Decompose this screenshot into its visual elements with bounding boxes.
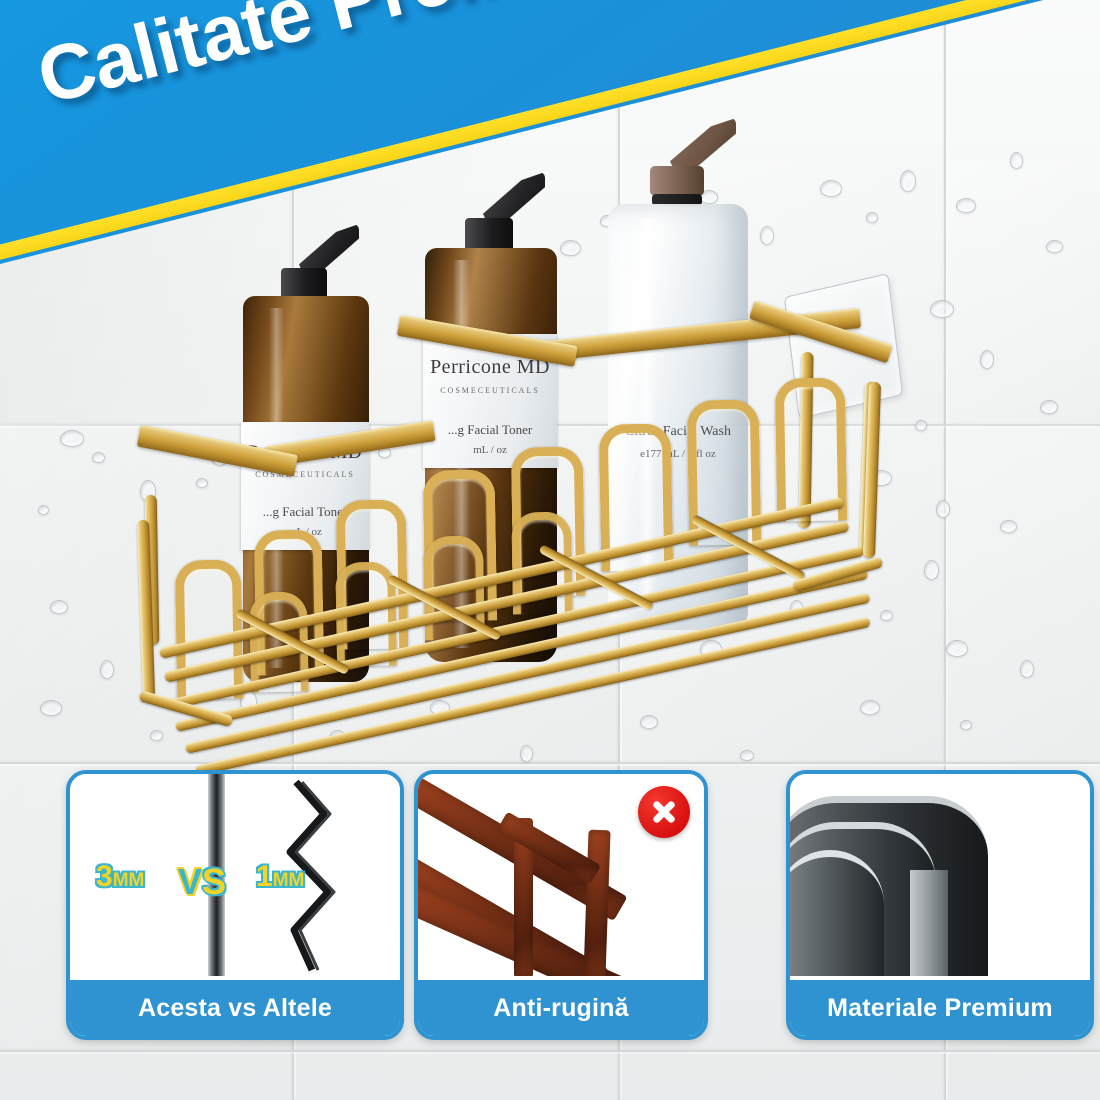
right-unit: MM — [273, 870, 305, 891]
vs-s: S — [202, 861, 226, 902]
feature-card-row: 3MM VS 1MM Acesta vs Altele — [0, 770, 1100, 1045]
card-media-anti-rust — [418, 774, 704, 976]
product-marketing-canvas: Perricone MD COSMECEUTICALS ...g Facial … — [0, 0, 1100, 1100]
card-premium-material[interactable]: Materiale Premium — [786, 770, 1094, 1040]
thickness-left-value: 3MM — [96, 860, 144, 894]
card-label-thickness: Acesta vs Altele — [70, 980, 400, 1036]
card-label-anti-rust: Anti-rugină — [418, 980, 704, 1036]
metal-tube-edge-highlight — [910, 870, 948, 976]
card-media-premium-material — [790, 774, 1090, 976]
vs-v: V — [178, 861, 202, 902]
right-value: 1 — [256, 860, 273, 893]
metal-tube-front — [790, 850, 884, 976]
card-label-premium-material: Materiale Premium — [790, 980, 1090, 1036]
card-media-thickness: 3MM VS 1MM — [70, 774, 400, 976]
grout-line — [0, 1050, 1100, 1052]
left-value: 3 — [96, 860, 113, 893]
card-anti-rust[interactable]: Anti-rugină — [414, 770, 708, 1040]
thickness-right-value: 1MM — [256, 860, 304, 894]
left-unit: MM — [113, 870, 145, 891]
close-icon — [638, 786, 690, 838]
header-diagonal-band: Calitate Premium — [0, 0, 1100, 470]
vs-badge: VS — [178, 864, 226, 900]
card-thickness[interactable]: 3MM VS 1MM Acesta vs Altele — [66, 770, 404, 1040]
rusted-post — [583, 830, 610, 976]
